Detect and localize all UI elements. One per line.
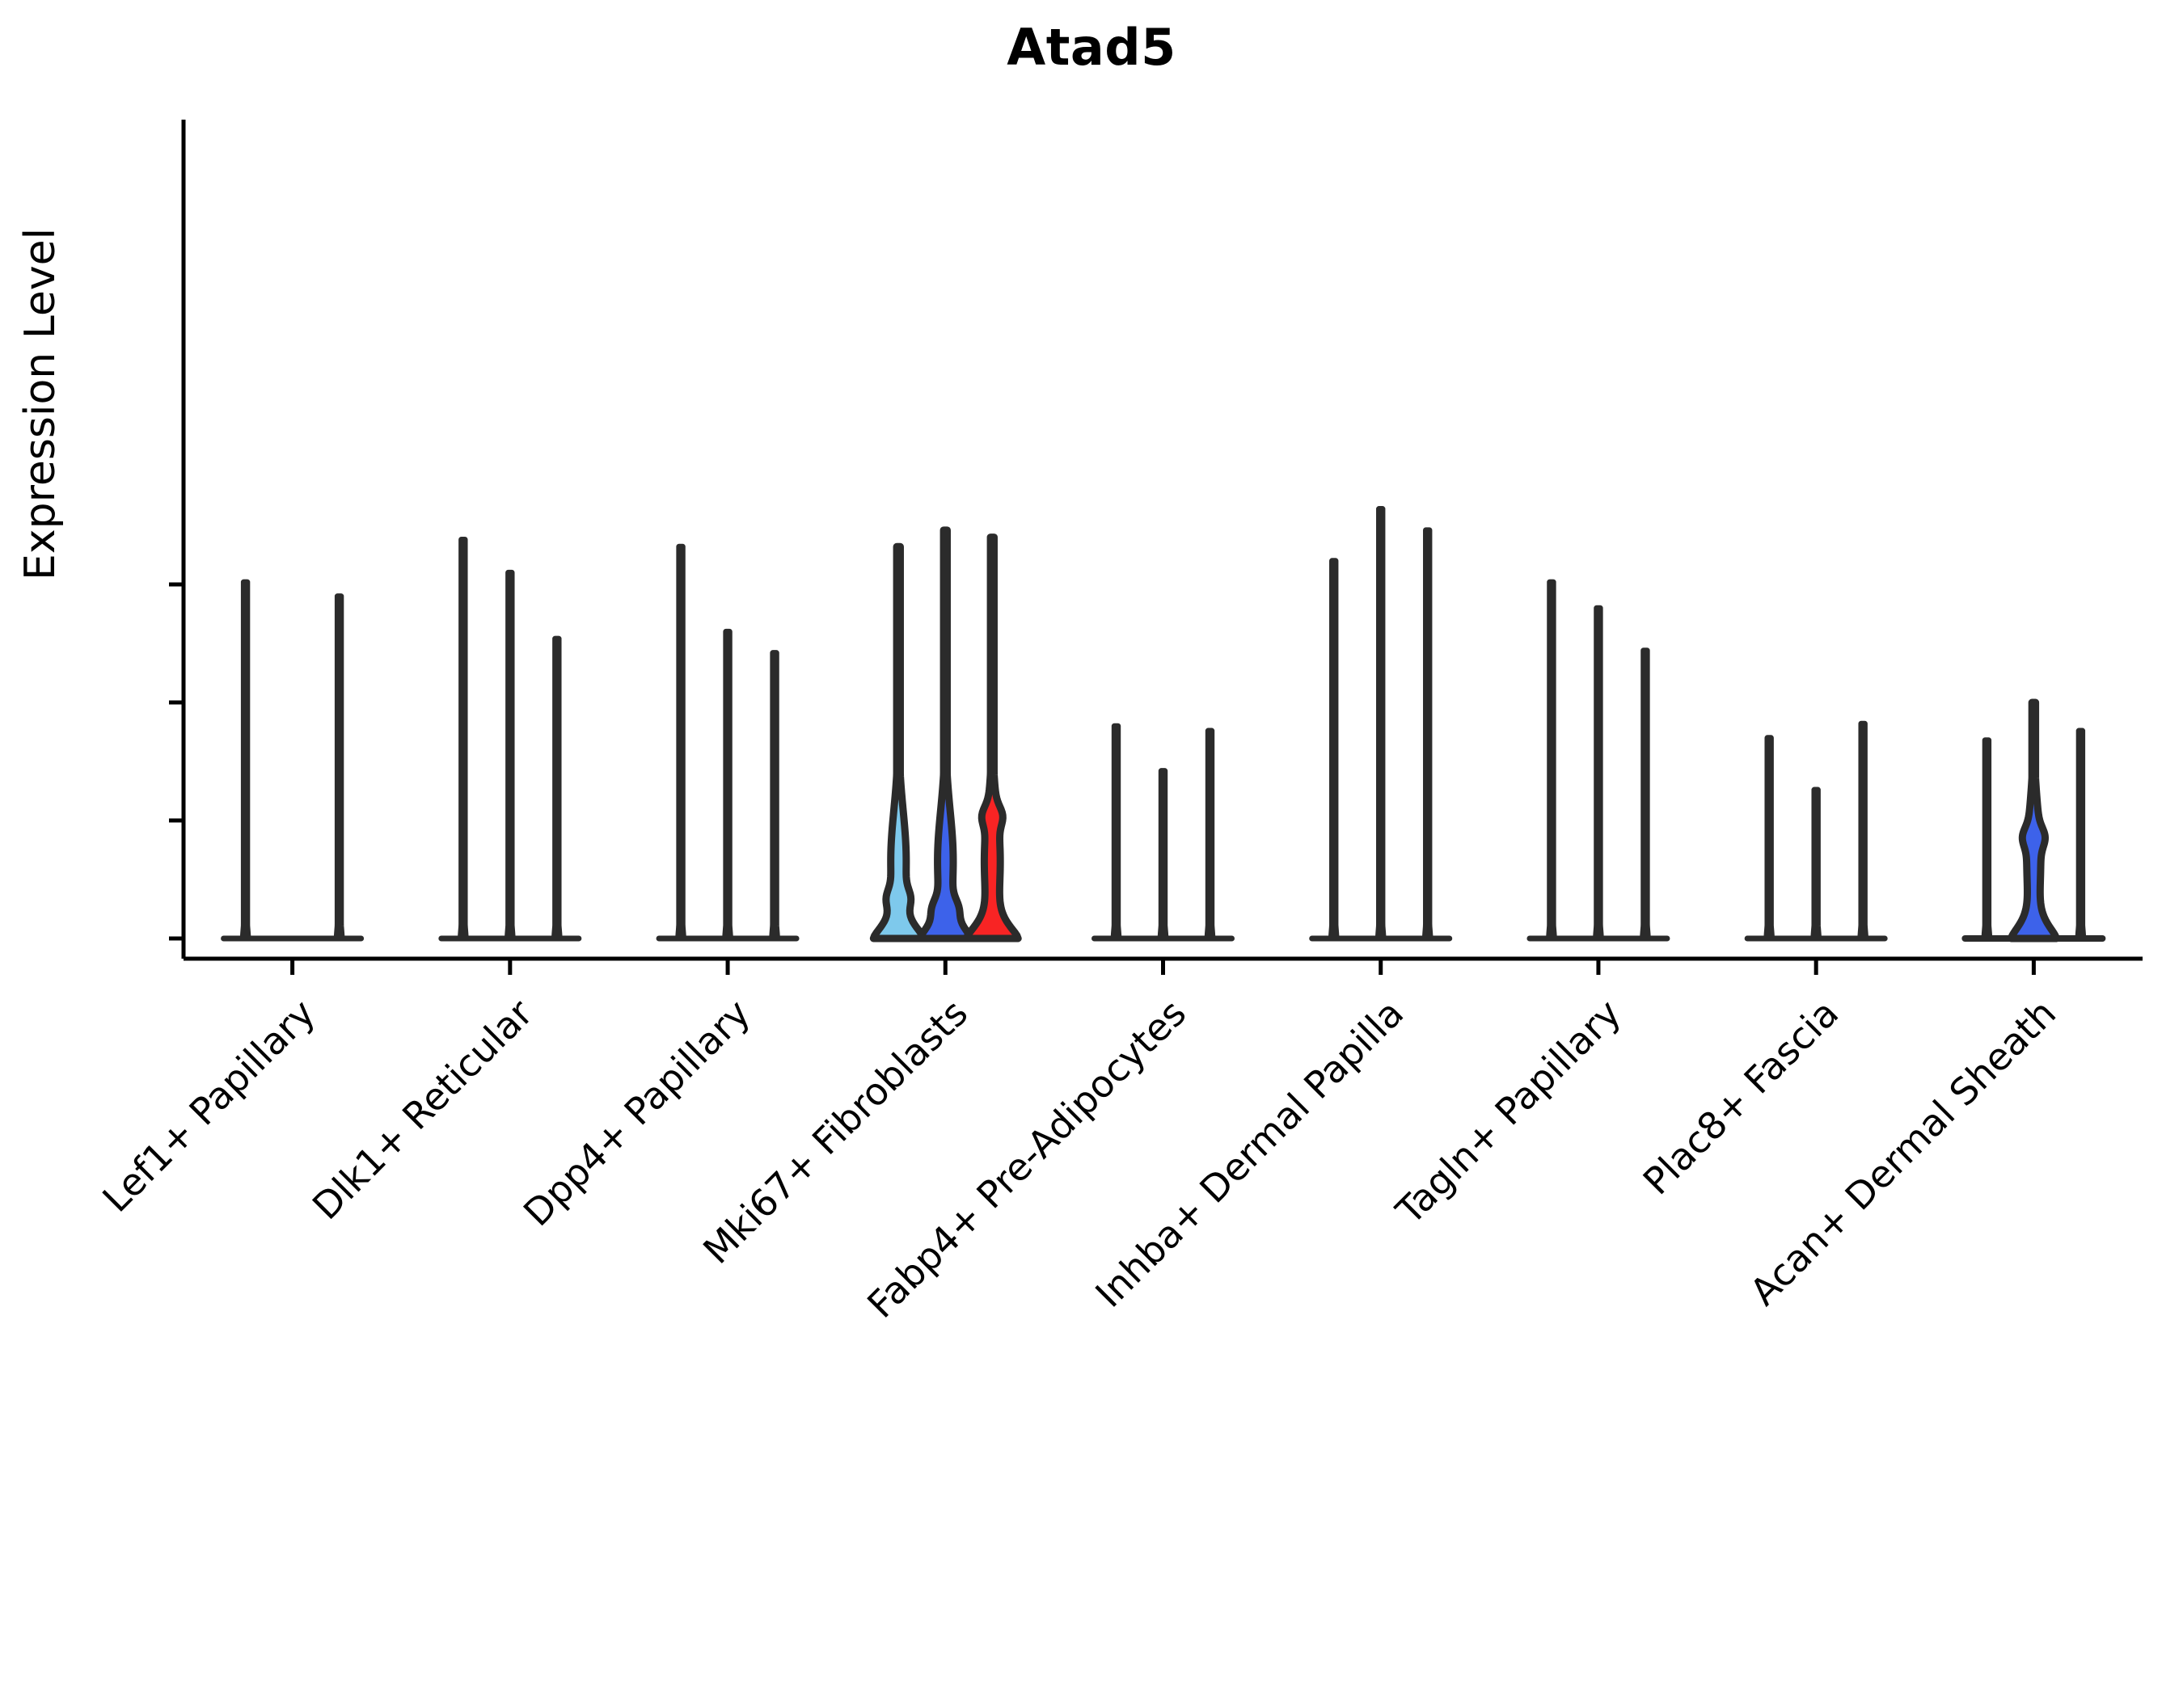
violin-shape [243, 582, 248, 938]
violin-shape [508, 572, 513, 938]
plot-canvas [0, 0, 2183, 1455]
violin-shape [966, 538, 1018, 938]
violin-shape [1643, 651, 1649, 938]
violin-shape [2012, 702, 2057, 938]
violin-shape [1425, 530, 1430, 938]
violin-shape [1596, 608, 1602, 938]
violin-shape [772, 653, 778, 938]
violin-shape [336, 597, 342, 938]
violin-shape [1207, 731, 1213, 938]
violin-shape [461, 540, 467, 938]
violin-shape [678, 546, 684, 938]
violin-shape [920, 530, 971, 938]
violin-shape [1860, 723, 1866, 938]
violin-shape [1160, 771, 1166, 938]
violin-shape [1378, 509, 1383, 938]
violin-shape [2078, 731, 2084, 938]
violin-shape [1331, 561, 1336, 938]
violin-shape [873, 546, 923, 938]
violin-shape [1549, 582, 1555, 938]
violin-shape [555, 639, 560, 938]
violin-shape [1113, 726, 1119, 938]
violin-shape [1767, 738, 1772, 938]
violin-shape [1984, 740, 1990, 938]
violin-shape [1814, 790, 1819, 938]
violin-plot-figure: Atad5 Expression Level 0.00.51.01.5 Lef1… [0, 0, 2183, 1455]
violin-shape [725, 631, 731, 938]
